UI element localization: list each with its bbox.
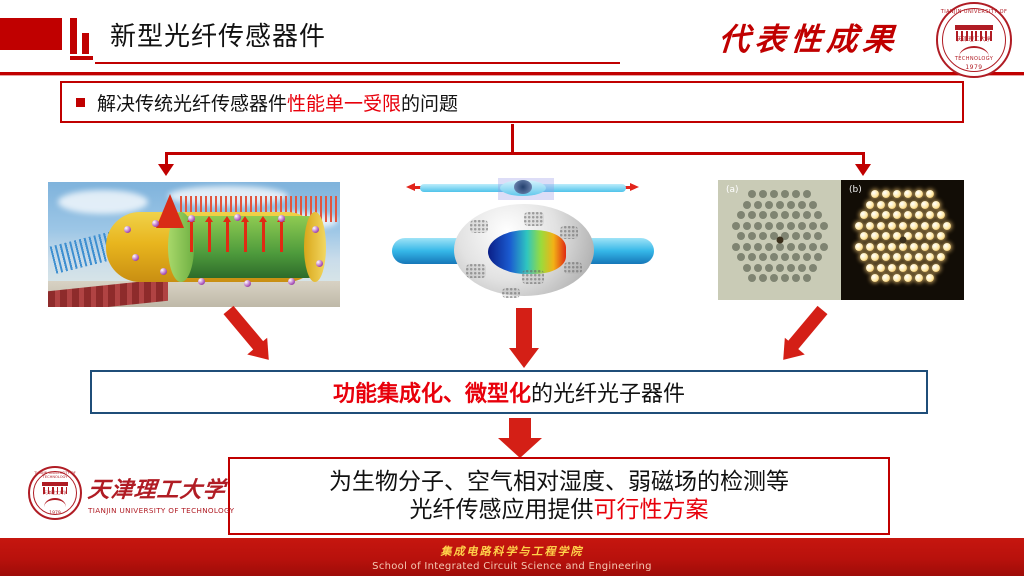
seal-bottom-center-text: 天津理工大学 [28, 490, 82, 496]
arrow-down-icon-right [855, 164, 871, 176]
pcf-panel-a: (a) [718, 180, 841, 300]
thick-arrow-down-icon-center [516, 308, 532, 350]
header-bar-baseline [70, 56, 93, 60]
university-seal-icon-bottom: TIANJIN UNIVERSITY OF TECHNOLOGY 天津理工大学 … [28, 466, 82, 520]
result-text-highlight: 功能集成化、微型化 [333, 382, 531, 407]
university-name-cn: 天津理工大学 [87, 472, 236, 504]
conclusion-line-1: 为生物分子、空气相对湿度、弱磁场的检测等 [329, 468, 789, 496]
university-seal-icon: TIANJIN UNIVERSITY OF 天津理工大学 TECHNOLOGY … [936, 2, 1012, 78]
bullet-text-before: 解决传统光纤传感器件 [97, 93, 287, 115]
square-bullet-icon [76, 98, 85, 107]
conclusion-line-2-before: 光纤传感应用提供 [410, 497, 594, 523]
university-name-en: TIANJIN UNIVERSITY OF TECHNOLOGY [88, 506, 234, 515]
footer-school-cn: 集成电路科学与工程学院 [441, 543, 584, 559]
microfiber-taper-field-render [392, 176, 654, 300]
conclusion-line-2: 光纤传感应用提供可行性方案 [410, 496, 709, 524]
seal-arc-bottom-text: TECHNOLOGY [936, 56, 1012, 62]
thick-arrow-down-icon-bottom [509, 418, 531, 440]
arrow-down-icon-left [158, 164, 174, 176]
fiber-cladding-3d-render [48, 182, 340, 307]
page-title: 新型光纤传感器件 [110, 16, 326, 53]
thick-arrow-head-center [509, 348, 539, 368]
header-bar-tall-icon [70, 18, 77, 54]
seal-bottom-arc-text: TIANJIN UNIVERSITY OF TECHNOLOGY [28, 471, 82, 479]
seal-arc-top-text: TIANJIN UNIVERSITY OF [936, 9, 1012, 15]
slide-root: 新型光纤传感器件 代表性成果 TIANJIN UNIVERSITY OF 天津理… [0, 0, 1024, 576]
seal-bottom-year: 1979 [28, 511, 82, 516]
bullet-statement-text: 解决传统光纤传感器件性能单一受限的问题 [97, 89, 458, 116]
pcf-panel-b: (b) [841, 180, 964, 300]
photonic-crystal-fiber-micrograph: (a) (b) [718, 180, 964, 300]
bullet-text-after: 的问题 [401, 93, 458, 115]
title-underline [95, 62, 620, 64]
seal-year-text: 1979 [936, 64, 1012, 71]
bracket-stem [511, 124, 514, 154]
header-accent-block [0, 18, 62, 50]
bullet-text-highlight: 性能单一受限 [287, 93, 401, 115]
header-rule-light [0, 75, 1024, 76]
bullet-statement-box: 解决传统光纤传感器件性能单一受限的问题 [60, 81, 964, 123]
result-box: 功能集成化、微型化的光纤光子器件 [90, 370, 928, 414]
seal-center-text: 天津理工大学 [936, 35, 1012, 43]
footer-school-en: School of Integrated Circuit Science and… [372, 561, 652, 572]
footer-banner: 集成电路科学与工程学院 School of Integrated Circuit… [0, 538, 1024, 576]
thick-arrow-head-bottom [498, 438, 542, 458]
header-bar-short-icon [82, 33, 89, 54]
bracket-connector [165, 152, 865, 155]
conclusion-box: 为生物分子、空气相对湿度、弱磁场的检测等 光纤传感应用提供可行性方案 [228, 457, 890, 535]
result-box-text: 功能集成化、微型化的光纤光子器件 [333, 376, 685, 408]
header-badge-label: 代表性成果 [717, 14, 900, 59]
conclusion-line-2-highlight: 可行性方案 [594, 497, 709, 523]
result-text-rest: 的光纤光子器件 [531, 382, 685, 407]
university-logo: TIANJIN UNIVERSITY OF TECHNOLOGY 天津理工大学 … [28, 462, 223, 524]
